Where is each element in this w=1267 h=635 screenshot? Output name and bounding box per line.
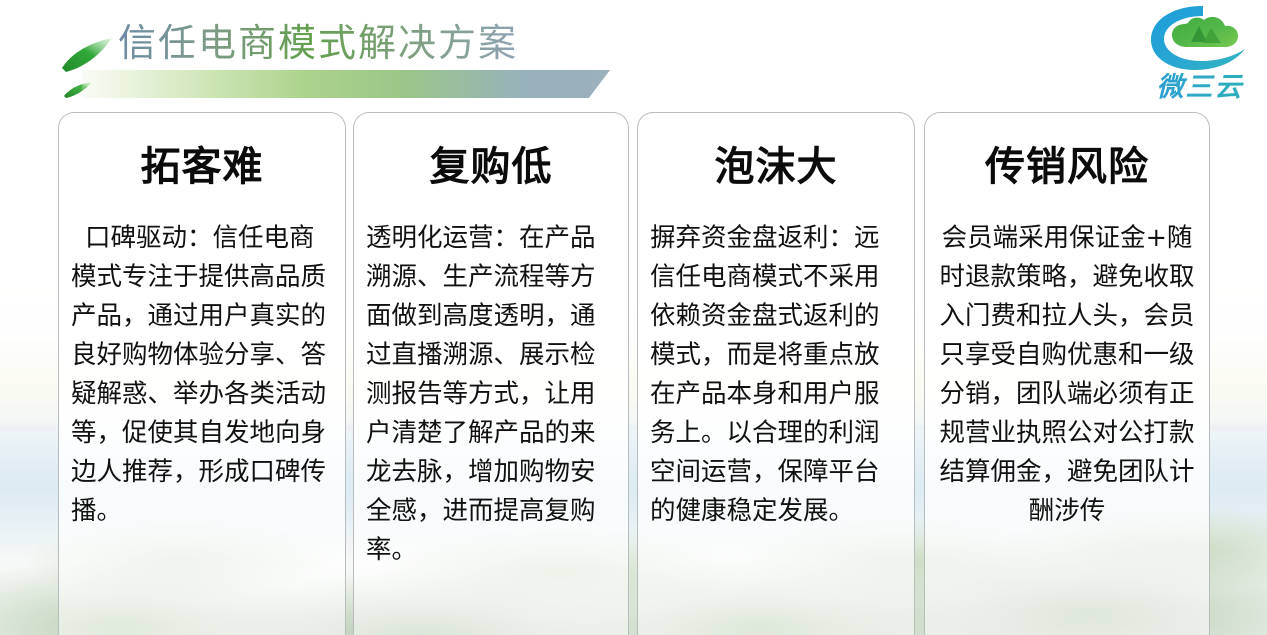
solution-card-4[interactable]: 传销风险 会员端采用保证金+随时退款策略，避免收取入门费和拉人头，会员只享受自购… xyxy=(924,112,1210,635)
card-title: 泡沫大 xyxy=(650,141,902,193)
solution-cards-row: 拓客难 口碑驱动：信任电商模式专注于提供高品质产品，通过用户真实的良好购物体验分… xyxy=(0,112,1267,635)
title-underline-bar xyxy=(82,70,610,98)
solution-card-2[interactable]: 复购低 透明化运营：在产品溯源、生产流程等方面做到高度透明，通过直播溯源、展示检… xyxy=(353,112,629,635)
card-title: 拓客难 xyxy=(71,141,333,193)
brand-logo: 微三云 xyxy=(1141,2,1259,106)
slide-header: 信任电商模式解决方案 xyxy=(0,0,1267,108)
card-body-text: 口碑驱动：信任电商模式专注于提供高品质产品，通过用户真实的良好购物体验分享、答疑… xyxy=(71,219,333,531)
card-body-text: 会员端采用保证金+随时退款策略，避免收取入门费和拉人头，会员只享受自购优惠和一级… xyxy=(937,219,1197,531)
slide-canvas: 信任电商模式解决方案 xyxy=(0,0,1267,635)
page-title: 信任电商模式解决方案 xyxy=(118,20,518,66)
card-body-text: 透明化运营：在产品溯源、生产流程等方面做到高度透明，通过直播溯源、展示检测报告等… xyxy=(366,219,616,570)
card-body-text: 摒弃资金盘返利：远信任电商模式不采用依赖资金盘式返利的模式，而是将重点放在产品本… xyxy=(650,219,902,531)
card-title: 复购低 xyxy=(366,141,616,193)
logo-wordmark: 微三云 xyxy=(1141,65,1259,104)
solution-card-1[interactable]: 拓客难 口碑驱动：信任电商模式专注于提供高品质产品，通过用户真实的良好购物体验分… xyxy=(58,112,346,635)
solution-card-3[interactable]: 泡沫大 摒弃资金盘返利：远信任电商模式不采用依赖资金盘式返利的模式，而是将重点放… xyxy=(637,112,915,635)
card-title: 传销风险 xyxy=(937,141,1197,193)
